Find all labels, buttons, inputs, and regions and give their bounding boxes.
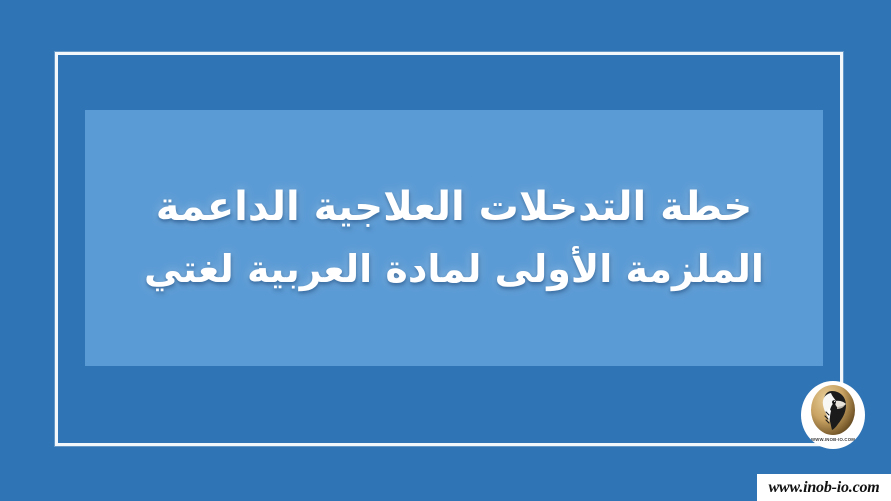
watermark-url: www.inob-io.com (768, 479, 879, 497)
title-line-2: الملزمة الأولى لمادة العربية لغتي (144, 244, 764, 295)
site-logo-badge[interactable]: WWW.INOB-IO.COM (801, 381, 865, 449)
title-text-block: خطة التدخلات العلاجية الداعمة الملزمة ال… (85, 110, 823, 366)
logo-disc (811, 385, 855, 435)
eagle-head-icon (813, 388, 853, 432)
logo-url-text: WWW.INOB-IO.COM (811, 437, 855, 442)
watermark-strip: www.inob-io.com (757, 474, 891, 501)
title-line-1: خطة التدخلات العلاجية الداعمة (156, 180, 752, 234)
title-card: خطة التدخلات العلاجية الداعمة الملزمة ال… (0, 0, 891, 501)
